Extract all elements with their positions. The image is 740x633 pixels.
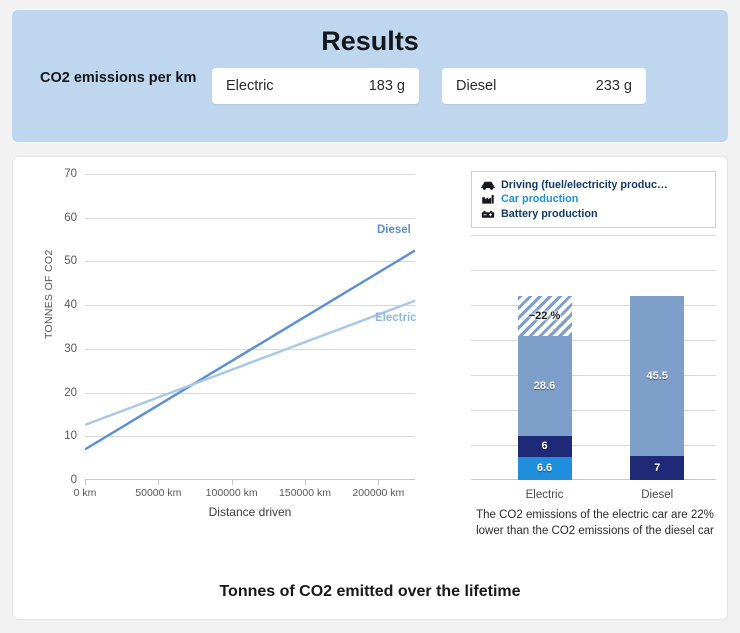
line-chart-x-tick-mark — [378, 480, 379, 485]
factory-icon — [481, 194, 495, 206]
bar-segment-driving-fuel-electricity-production[interactable]: 45.5 — [630, 296, 684, 455]
bar-segment-car-production[interactable]: 6 — [518, 436, 572, 457]
line-chart-x-tick-mark — [232, 480, 233, 485]
line-chart-y-tick-label: 30 — [64, 343, 77, 355]
line-chart-y-tick-label: 50 — [64, 255, 77, 267]
line-chart-series-layer — [85, 174, 415, 480]
legend-item-driving[interactable]: Driving (fuel/electricity produc… — [481, 178, 707, 192]
bar-segment-value: −22 % — [529, 310, 561, 322]
line-chart-x-tick-label: 0 km — [74, 487, 97, 499]
bar-diesel[interactable]: 745.5Diesel — [630, 235, 684, 480]
bar-segment-battery-production[interactable]: 6.6 — [518, 457, 572, 480]
line-series-diesel — [85, 251, 415, 450]
metric-name-diesel: Diesel — [456, 78, 496, 94]
legend-label-driving: Driving (fuel/electricity produc… — [501, 178, 668, 192]
metric-box-electric: Electric 183 g — [212, 68, 419, 104]
line-chart-series-label-diesel: Diesel — [377, 224, 411, 236]
battery-icon — [481, 208, 495, 220]
line-chart-x-axis-label: Distance driven — [85, 505, 415, 519]
results-header-panel: Results CO2 emissions per km Electric 18… — [12, 10, 728, 142]
line-chart-y-tick-label: 0 — [71, 474, 77, 486]
car-icon — [481, 179, 495, 191]
line-chart-x-tick-label: 50000 km — [135, 487, 181, 499]
line-chart-y-tick-label: 40 — [64, 299, 77, 311]
bar-chart: Driving (fuel/electricity produc… Car pr… — [443, 157, 728, 557]
legend-label-car-production: Car production — [501, 192, 578, 206]
line-chart-y-tick-label: 60 — [64, 212, 77, 224]
bar-category-label-diesel: Diesel — [630, 489, 684, 501]
line-chart-y-tick-label: 70 — [64, 168, 77, 180]
line-chart-plot-area: 0102030405060700 km50000 km100000 km1500… — [85, 174, 415, 480]
chart-card: TONNES OF CO2 0102030405060700 km50000 k… — [12, 156, 728, 620]
line-chart-y-tick-label: 10 — [64, 430, 77, 442]
line-chart-x-tick-label: 100000 km — [206, 487, 258, 499]
chart-bottom-title: Tonnes of CO2 emitted over the lifetime — [13, 583, 727, 601]
bar-chart-plot-area: 6.6628.6−22 %Electric745.5Diesel — [471, 235, 716, 480]
line-chart-y-tick-label: 20 — [64, 387, 77, 399]
bar-segment-value: 7 — [654, 462, 660, 474]
line-chart-x-tick-label: 200000 km — [352, 487, 404, 499]
metric-group-label: CO2 emissions per km — [12, 68, 212, 89]
chart-legend: Driving (fuel/electricity produc… Car pr… — [471, 171, 716, 228]
metric-name-electric: Electric — [226, 78, 274, 94]
bar-segment-savings[interactable]: −22 % — [518, 296, 572, 336]
bar-segment-car-production[interactable]: 7 — [630, 456, 684, 481]
line-chart-x-tick-mark — [85, 480, 86, 485]
line-chart-x-tick-mark — [158, 480, 159, 485]
metric-row: CO2 emissions per km Electric 183 g Dies… — [12, 68, 728, 104]
legend-item-battery-production[interactable]: Battery production — [481, 207, 707, 221]
page-title: Results — [12, 26, 728, 57]
bar-electric[interactable]: 6.6628.6−22 %Electric — [518, 235, 572, 480]
bar-segment-driving-fuel-electricity-production[interactable]: 28.6 — [518, 336, 572, 436]
metric-value-electric: 183 g — [369, 78, 405, 94]
metric-value-diesel: 233 g — [596, 78, 632, 94]
legend-label-battery-production: Battery production — [501, 207, 598, 221]
bar-category-label-electric: Electric — [518, 489, 572, 501]
bar-segment-value: 28.6 — [534, 380, 555, 392]
line-chart: TONNES OF CO2 0102030405060700 km50000 k… — [13, 157, 443, 537]
metric-box-diesel: Diesel 233 g — [442, 68, 646, 104]
line-chart-x-tick-label: 150000 km — [279, 487, 331, 499]
line-chart-series-label-electric: Electric — [375, 312, 417, 324]
line-series-electric — [85, 301, 415, 425]
line-chart-x-tick-mark — [305, 480, 306, 485]
bar-chart-caption: The CO2 emissions of the electric car ar… — [461, 507, 728, 540]
line-chart-y-axis-label: TONNES OF CO2 — [43, 250, 55, 339]
results-page: Results CO2 emissions per km Electric 18… — [0, 0, 740, 633]
legend-item-car-production[interactable]: Car production — [481, 192, 707, 206]
bar-segment-value: 45.5 — [646, 370, 667, 382]
bar-segment-value: 6 — [541, 440, 547, 452]
bar-segment-value: 6.6 — [537, 462, 552, 474]
